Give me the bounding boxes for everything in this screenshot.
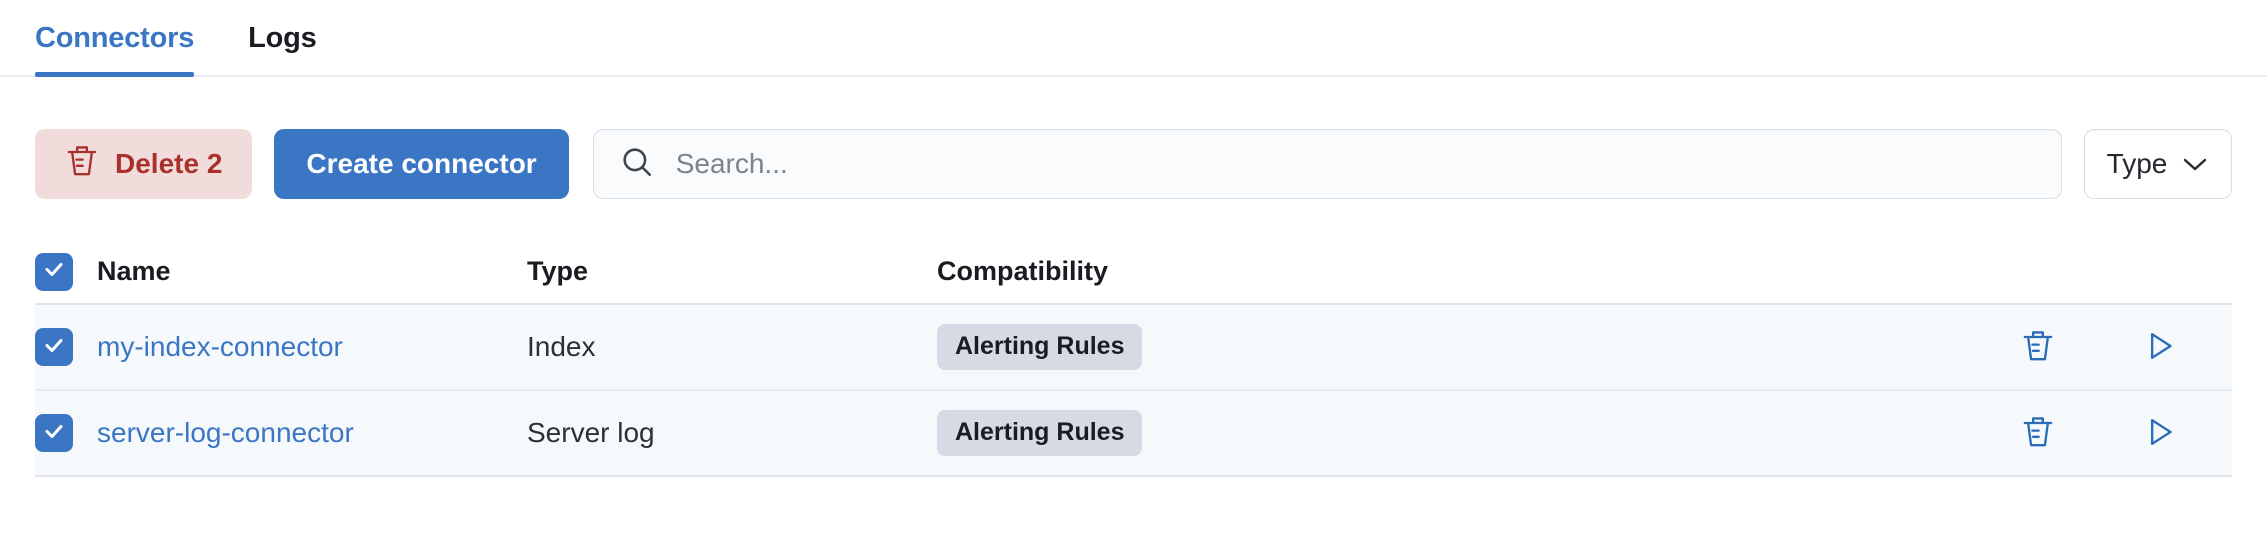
create-connector-label: Create connector xyxy=(306,148,536,180)
row-compatibility-cell: Alerting Rules xyxy=(937,324,2002,370)
play-icon xyxy=(2144,329,2176,366)
table-header-row: Name Type Compatibility xyxy=(35,240,2232,305)
tab-bar: Connectors Logs xyxy=(0,0,2267,77)
row-name-cell: my-index-connector xyxy=(97,331,527,363)
chevron-down-icon xyxy=(2181,148,2209,180)
search-field[interactable] xyxy=(593,129,2062,199)
create-connector-button[interactable]: Create connector xyxy=(274,129,568,199)
delete-button[interactable]: Delete 2 xyxy=(35,129,252,199)
row-run-button[interactable] xyxy=(2138,411,2182,455)
row-select-cell xyxy=(35,328,97,366)
check-icon xyxy=(42,333,66,362)
select-all-checkbox[interactable] xyxy=(35,253,73,291)
play-icon xyxy=(2144,415,2176,452)
trash-icon xyxy=(65,143,99,186)
column-header-compatibility[interactable]: Compatibility xyxy=(937,256,2002,287)
column-header-type[interactable]: Type xyxy=(527,256,937,287)
connector-name-link[interactable]: my-index-connector xyxy=(97,331,343,362)
row-checkbox[interactable] xyxy=(35,414,73,452)
delete-button-label: Delete 2 xyxy=(115,148,222,180)
connectors-page: Connectors Logs Delete 2 Create connecto… xyxy=(0,0,2267,537)
table-row[interactable]: server-log-connector Server log Alerting… xyxy=(35,391,2232,477)
row-delete-button[interactable] xyxy=(2016,411,2060,455)
column-header-name[interactable]: Name xyxy=(97,256,527,287)
check-icon xyxy=(42,257,66,286)
tab-logs-label: Logs xyxy=(248,22,316,55)
tab-connectors-label: Connectors xyxy=(35,22,194,55)
row-compatibility-cell: Alerting Rules xyxy=(937,410,2002,456)
row-run-button[interactable] xyxy=(2138,325,2182,369)
row-actions-cell xyxy=(2002,325,2232,369)
row-delete-button[interactable] xyxy=(2016,325,2060,369)
row-type-cell: Server log xyxy=(527,417,937,449)
search-input[interactable] xyxy=(676,148,2035,180)
trash-icon xyxy=(2021,328,2055,367)
row-select-cell xyxy=(35,414,97,452)
row-actions-cell xyxy=(2002,411,2232,455)
toolbar: Delete 2 Create connector Type xyxy=(35,129,2232,199)
trash-icon xyxy=(2021,414,2055,453)
search-icon xyxy=(620,145,654,184)
type-filter-button[interactable]: Type xyxy=(2084,129,2232,199)
type-filter-label: Type xyxy=(2107,148,2168,180)
compatibility-badge: Alerting Rules xyxy=(937,410,1142,456)
row-checkbox[interactable] xyxy=(35,328,73,366)
row-type-cell: Index xyxy=(527,331,937,363)
compatibility-badge: Alerting Rules xyxy=(937,324,1142,370)
tab-logs[interactable]: Logs xyxy=(248,0,334,77)
row-name-cell: server-log-connector xyxy=(97,417,527,449)
table-row[interactable]: my-index-connector Index Alerting Rules xyxy=(35,305,2232,391)
tab-connectors[interactable]: Connectors xyxy=(35,0,212,77)
connectors-table: Name Type Compatibility my-index-connect… xyxy=(35,240,2232,477)
check-icon xyxy=(42,419,66,448)
select-all-cell xyxy=(35,253,97,291)
connector-name-link[interactable]: server-log-connector xyxy=(97,417,354,448)
